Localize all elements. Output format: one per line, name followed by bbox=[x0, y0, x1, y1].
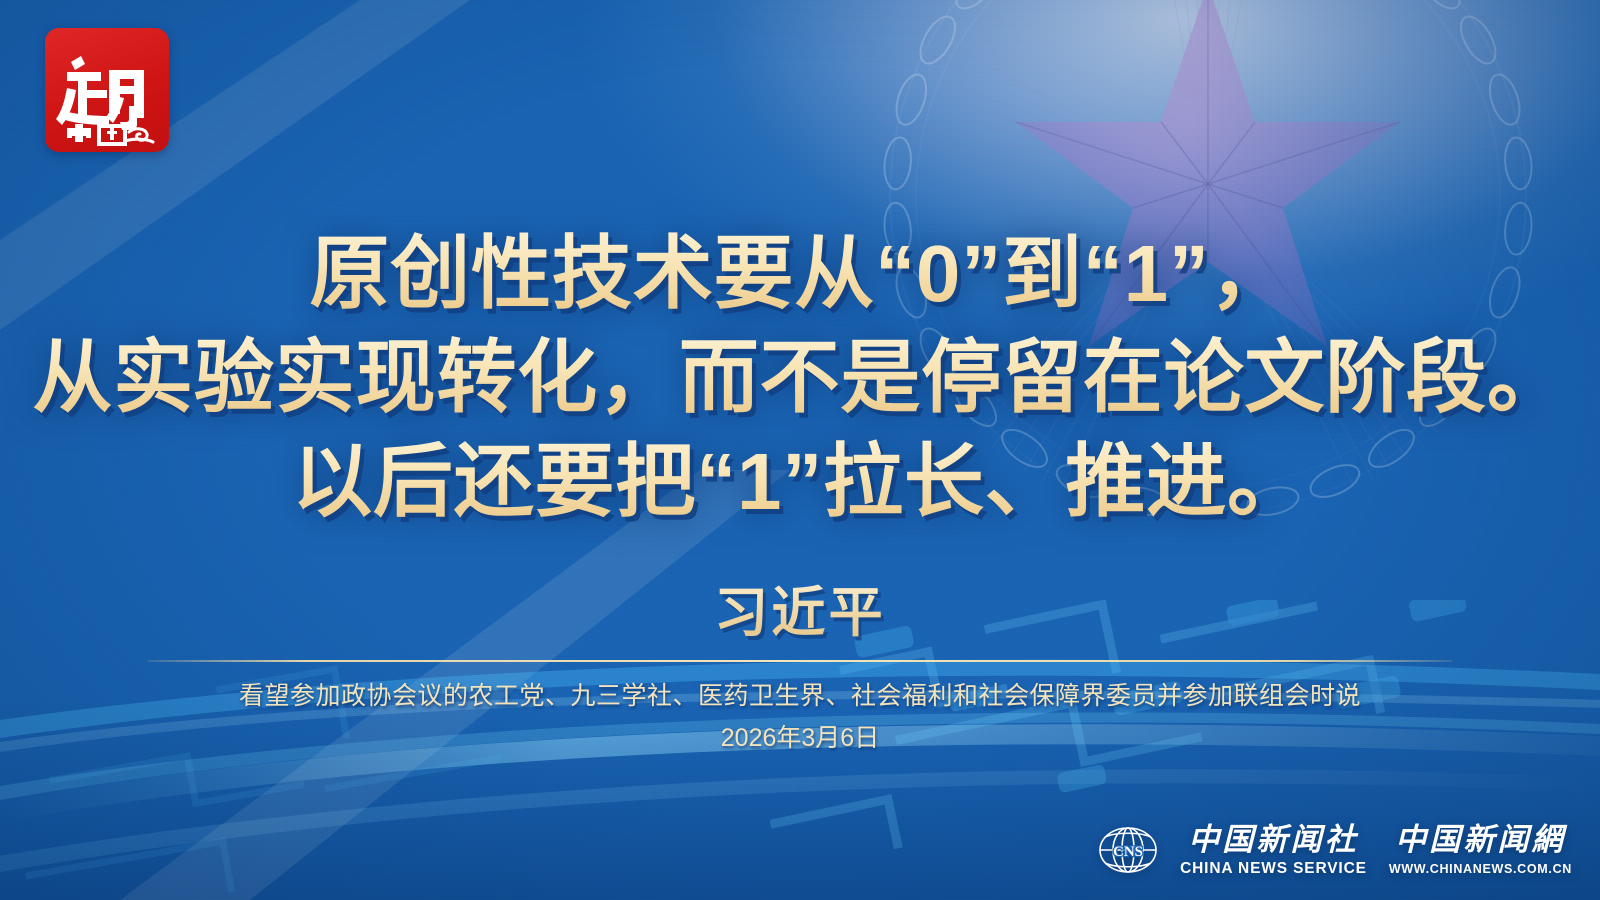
cns-globe-icon: CNS bbox=[1098, 822, 1158, 878]
logo-glyphs bbox=[56, 56, 153, 144]
quote-line-2: 从实验实现转化，而不是停留在论文阶段。 bbox=[0, 326, 1600, 430]
divider-rule bbox=[148, 660, 1452, 662]
quote-line-3: 以后还要把“1”拉长、推进。 bbox=[0, 430, 1600, 534]
cns-globe-text: CNS bbox=[1113, 844, 1143, 860]
poster-canvas: 原创性技术要从“0”到“1”， 从实验实现转化，而不是停留在论文阶段。 以后还要… bbox=[0, 0, 1600, 900]
site-name-block: 中国新闻網 WWW.CHINANEWS.COM.CN bbox=[1389, 824, 1572, 876]
quote-line-1: 原创性技术要从“0”到“1”， bbox=[0, 222, 1600, 326]
agency-name-block: 中国新闻社 CHINA NEWS SERVICE bbox=[1180, 824, 1367, 877]
footer-branding: CNS 中国新闻社 CHINA NEWS SERVICE 中国新闻網 WWW.C… bbox=[1098, 822, 1572, 878]
quote-block: 原创性技术要从“0”到“1”， 从实验实现转化，而不是停留在论文阶段。 以后还要… bbox=[0, 222, 1600, 534]
occasion-caption: 看望参加政协会议的农工党、九三学社、医药卫生界、社会福利和社会保障界委员并参加联… bbox=[0, 676, 1600, 716]
agency-name-cn: 中国新闻社 bbox=[1188, 824, 1359, 855]
site-url: WWW.CHINANEWS.COM.CN bbox=[1389, 863, 1572, 876]
jinguan-zhongguo-logo[interactable] bbox=[45, 28, 169, 152]
caption-date: 2026年3月6日 bbox=[0, 718, 1600, 758]
site-name-cn: 中国新闻網 bbox=[1395, 824, 1566, 855]
speaker-name: 习近平 bbox=[0, 568, 1600, 647]
agency-name-en: CHINA NEWS SERVICE bbox=[1180, 861, 1367, 877]
